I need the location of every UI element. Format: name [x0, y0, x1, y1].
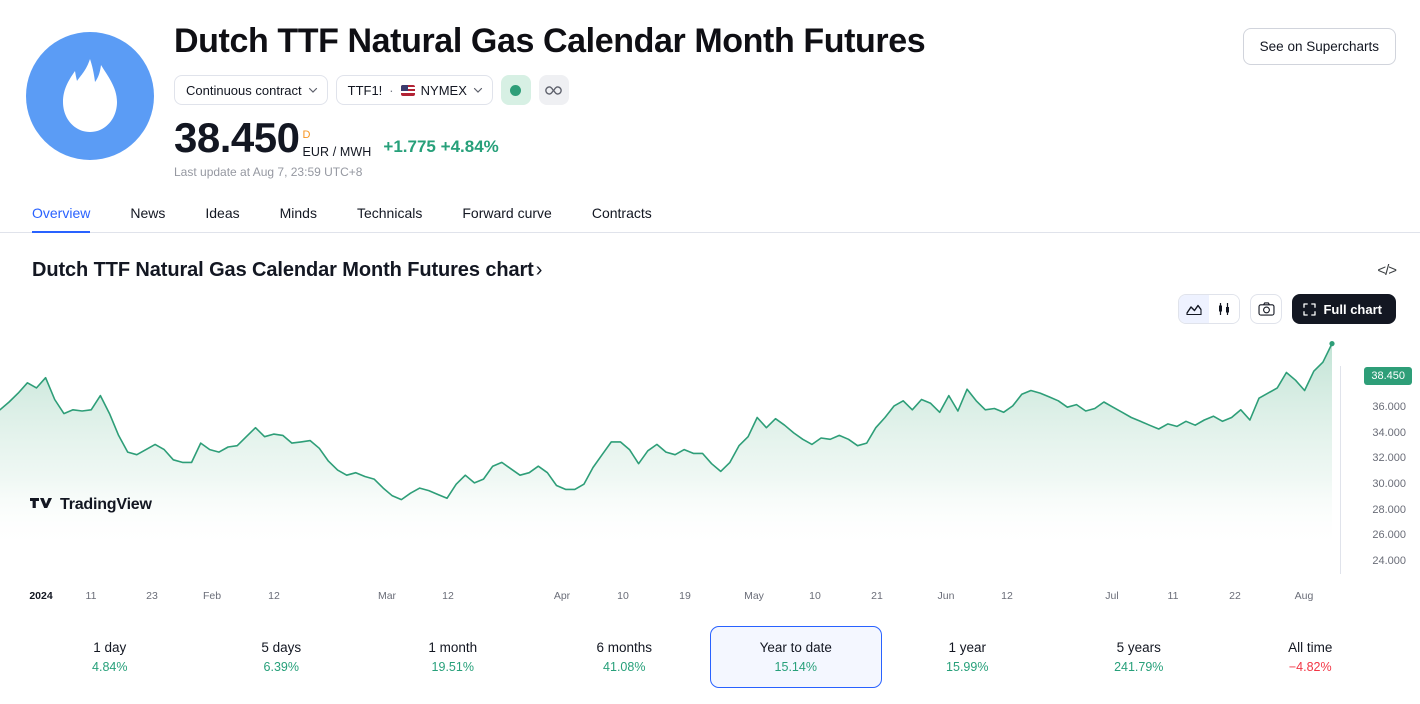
last-price: 38.450: [174, 117, 299, 159]
time-axis-label: Feb: [203, 590, 221, 602]
period-5-years[interactable]: 5 years241.79%: [1053, 626, 1225, 688]
price-axis-label: 28.000: [1372, 504, 1406, 516]
change-percent: +4.84%: [441, 137, 499, 156]
time-axis-label: Jul: [1105, 590, 1118, 602]
chevron-down-icon: [308, 85, 318, 95]
price-axis-label: 32.000: [1372, 452, 1406, 464]
last-update-text: Last update at Aug 7, 23:59 UTC+8: [174, 165, 1396, 179]
candlestick-chart-icon[interactable]: [1209, 295, 1239, 323]
period-label: 1 month: [428, 640, 477, 655]
period-value: −4.82%: [1289, 660, 1332, 674]
price-axis-label: 24.000: [1372, 555, 1406, 567]
period-value: 6.39%: [264, 660, 299, 674]
period-label: 5 days: [261, 640, 301, 655]
period-label: 1 day: [93, 640, 126, 655]
see-on-supercharts-button[interactable]: See on Supercharts: [1243, 28, 1396, 65]
tab-contracts[interactable]: Contracts: [572, 205, 672, 232]
price-axis-label: 26.000: [1372, 529, 1406, 541]
tab-forward-curve[interactable]: Forward curve: [442, 205, 571, 232]
period-1-month[interactable]: 1 month19.51%: [367, 626, 539, 688]
symbol-label: TTF1!: [348, 83, 383, 98]
time-axis-label: 12: [1001, 590, 1013, 602]
tab-ideas[interactable]: Ideas: [185, 205, 259, 232]
price-change: +1.775 +4.84%: [383, 137, 498, 159]
area-chart-icon[interactable]: [1179, 295, 1209, 323]
full-chart-button[interactable]: Full chart: [1292, 294, 1396, 324]
change-absolute: +1.775: [383, 137, 435, 156]
price-axis-label: 30.000: [1372, 478, 1406, 490]
delayed-data-flag: D: [302, 130, 371, 141]
infinity-icon[interactable]: [539, 75, 569, 105]
time-axis-label: 22: [1229, 590, 1241, 602]
period-value: 15.99%: [946, 660, 988, 674]
full-chart-label: Full chart: [1323, 302, 1382, 317]
flame-icon: [26, 32, 154, 160]
time-axis-label: 11: [1168, 590, 1179, 602]
period-value: 15.14%: [775, 660, 817, 674]
page-title: Dutch TTF Natural Gas Calendar Month Fut…: [174, 22, 1396, 61]
time-axis-label: Mar: [378, 590, 396, 602]
period-value: 241.79%: [1114, 660, 1163, 674]
symbol-separator: ·: [388, 83, 394, 98]
time-axis-label: 19: [679, 590, 691, 602]
price-chart[interactable]: TradingView: [0, 334, 1420, 564]
chart-title-link[interactable]: Dutch TTF Natural Gas Calendar Month Fut…: [32, 259, 542, 282]
period-label: 1 year: [948, 640, 986, 655]
period-label: All time: [1288, 640, 1332, 655]
time-axis-label: Apr: [554, 590, 570, 602]
price-axis-label: 34.000: [1372, 427, 1406, 439]
period-5-days[interactable]: 5 days6.39%: [196, 626, 368, 688]
time-axis-label: May: [744, 590, 764, 602]
status-dot: [510, 85, 521, 96]
period-value: 19.51%: [432, 660, 474, 674]
chevron-down-icon: [473, 85, 483, 95]
time-axis-label: 10: [809, 590, 821, 602]
logo-container: [24, 20, 154, 160]
period-value: 4.84%: [92, 660, 127, 674]
continuous-contract-dropdown[interactable]: Continuous contract: [174, 75, 328, 105]
chart-plot: [0, 334, 1340, 549]
time-axis-label: Aug: [1295, 590, 1314, 602]
period-all-time[interactable]: All time−4.82%: [1225, 626, 1397, 688]
time-axis-label: 10: [617, 590, 629, 602]
time-axis: 20241123Feb12Mar12Apr1019May1021Jun12Jul…: [0, 590, 1340, 608]
tab-news[interactable]: News: [110, 205, 185, 232]
time-axis-label: 21: [871, 590, 883, 602]
chart-header: Dutch TTF Natural Gas Calendar Month Fut…: [0, 233, 1420, 282]
period-6-months[interactable]: 6 months41.08%: [539, 626, 711, 688]
price-axis-label: 36.000: [1372, 401, 1406, 413]
period-1-day[interactable]: 1 day4.84%: [24, 626, 196, 688]
tradingview-logo-icon: [30, 498, 53, 512]
symbol-chip-row: Continuous contract TTF1! · NYMEX: [174, 75, 1396, 105]
chart-title-arrow: ›: [536, 259, 543, 281]
tradingview-watermark-label: TradingView: [60, 496, 152, 514]
chart-title-text: Dutch TTF Natural Gas Calendar Month Fut…: [32, 259, 534, 281]
period-year-to-date[interactable]: Year to date15.14%: [710, 626, 882, 688]
period-value: 41.08%: [603, 660, 645, 674]
tradingview-watermark: TradingView: [30, 496, 152, 514]
price-row: 38.450 D EUR / MWH +1.775 +4.84%: [174, 117, 1396, 159]
section-tabs: OverviewNewsIdeasMindsTechnicalsForward …: [0, 195, 1420, 233]
period-label: Year to date: [760, 640, 832, 655]
tab-technicals[interactable]: Technicals: [337, 205, 442, 232]
period-label: 6 months: [596, 640, 652, 655]
time-axis-label: 2024: [29, 590, 52, 602]
time-axis-label: 12: [268, 590, 280, 602]
period-performance-row: 1 day4.84%5 days6.39%1 month19.51%6 mont…: [0, 626, 1420, 688]
period-label: 5 years: [1117, 640, 1161, 655]
exchange-label: NYMEX: [421, 83, 467, 98]
market-open-dot-icon[interactable]: [501, 75, 531, 105]
tab-minds[interactable]: Minds: [260, 205, 337, 232]
embed-code-icon[interactable]: </>: [1377, 262, 1396, 279]
price-axis: 36.00034.00032.00030.00028.00026.00024.0…: [1342, 366, 1420, 574]
tab-overview[interactable]: Overview: [32, 205, 110, 232]
chart-toolbar: Full chart: [0, 282, 1420, 324]
axis-divider: [1340, 366, 1341, 574]
time-axis-label: 12: [442, 590, 454, 602]
chart-type-group: [1178, 294, 1240, 324]
symbol-exchange-dropdown[interactable]: TTF1! · NYMEX: [336, 75, 493, 105]
continuous-contract-label: Continuous contract: [186, 83, 302, 98]
expand-icon: [1303, 303, 1316, 316]
time-axis-label: 23: [146, 590, 158, 602]
currency-unit: EUR / MWH: [302, 146, 371, 159]
us-flag-icon: [401, 85, 415, 96]
time-axis-label: 11: [86, 590, 97, 602]
camera-icon[interactable]: [1250, 294, 1282, 324]
time-axis-label: Jun: [938, 590, 955, 602]
period-1-year[interactable]: 1 year15.99%: [882, 626, 1054, 688]
current-price-badge: 38.450: [1364, 367, 1412, 385]
instrument-header: Dutch TTF Natural Gas Calendar Month Fut…: [0, 0, 1420, 179]
